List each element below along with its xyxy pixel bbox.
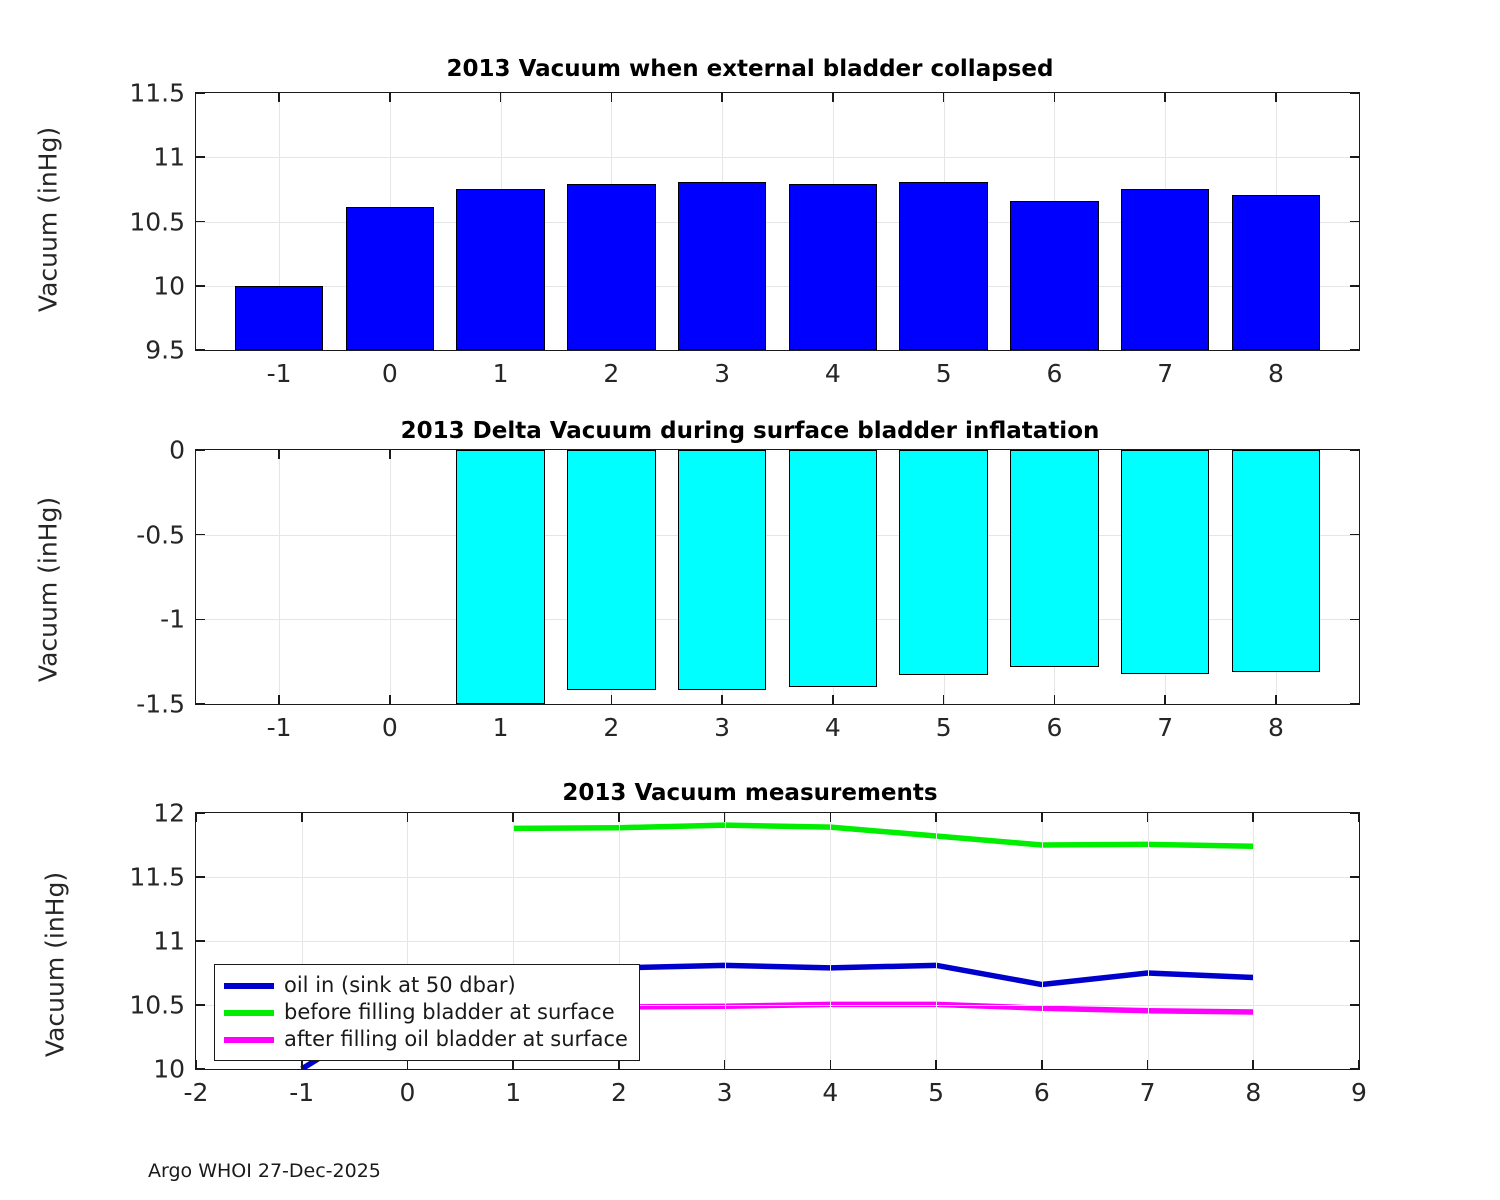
x-tick-mark <box>935 813 937 822</box>
x-tick-mark <box>1054 695 1056 704</box>
bar[interactable] <box>235 286 324 350</box>
y-tick-mark <box>1350 703 1359 705</box>
panel-3-title: 2013 Vacuum measurements <box>0 780 1500 806</box>
y-tick-mark <box>196 812 205 814</box>
bar[interactable] <box>1232 450 1321 672</box>
bar[interactable] <box>456 450 545 704</box>
gridline-vertical <box>1148 813 1149 1069</box>
x-tick-label: 6 <box>1046 713 1062 742</box>
x-tick-mark <box>724 813 726 822</box>
x-tick-label: 3 <box>717 1078 733 1107</box>
bar[interactable] <box>1232 195 1321 350</box>
y-tick-label: 10 <box>153 1055 185 1084</box>
panel-2-ylabel: Vacuum (inHg) <box>34 480 63 700</box>
x-tick-mark <box>512 1060 514 1069</box>
x-tick-mark <box>195 1060 197 1069</box>
x-tick-label: -1 <box>267 713 292 742</box>
x-tick-label: 4 <box>825 713 841 742</box>
y-tick-mark <box>1350 349 1359 351</box>
y-tick-mark <box>1350 1004 1359 1006</box>
y-tick-mark <box>1350 534 1359 536</box>
y-tick-mark <box>196 221 205 223</box>
y-tick-label: 11.5 <box>129 863 185 892</box>
y-tick-mark <box>196 449 205 451</box>
y-tick-mark <box>196 703 205 705</box>
x-tick-label: 3 <box>714 359 730 388</box>
panel-1-plot-area: 9.51010.51111.5-1012345678 <box>195 92 1360 351</box>
x-tick-label: 9 <box>1351 1078 1367 1107</box>
panel-1-title: 2013 Vacuum when external bladder collap… <box>0 56 1500 82</box>
bar[interactable] <box>346 207 435 350</box>
footer-credit: Argo WHOI 27-Dec-2025 <box>148 1160 381 1182</box>
x-tick-mark <box>195 813 197 822</box>
x-tick-label: 7 <box>1140 1078 1156 1107</box>
bar[interactable] <box>1121 450 1210 674</box>
x-tick-mark <box>1164 93 1166 102</box>
x-tick-mark <box>389 695 391 704</box>
x-tick-label: 5 <box>936 713 952 742</box>
bar[interactable] <box>1010 201 1099 350</box>
y-tick-label: -1.5 <box>136 690 185 719</box>
x-tick-label: -2 <box>184 1078 209 1107</box>
x-tick-mark <box>830 813 832 822</box>
y-tick-mark <box>1350 940 1359 942</box>
bar[interactable] <box>678 182 767 350</box>
y-tick-label: -0.5 <box>136 520 185 549</box>
x-tick-label: 5 <box>928 1078 944 1107</box>
x-tick-mark <box>278 695 280 704</box>
x-tick-mark <box>301 813 303 822</box>
bar[interactable] <box>1010 450 1099 667</box>
x-tick-mark <box>618 1060 620 1069</box>
bar[interactable] <box>789 184 878 350</box>
y-tick-mark <box>1350 449 1359 451</box>
x-tick-mark <box>724 1060 726 1069</box>
x-tick-mark <box>1358 1060 1360 1069</box>
x-tick-label: 2 <box>611 1078 627 1107</box>
x-tick-label: 1 <box>505 1078 521 1107</box>
legend-item[interactable]: oil in (sink at 50 dbar) <box>224 972 628 999</box>
bar[interactable] <box>567 450 656 690</box>
y-tick-label: 10 <box>153 271 185 300</box>
bar[interactable] <box>1121 189 1210 350</box>
panel-1-ylabel: Vacuum (inHg) <box>34 110 63 330</box>
x-tick-mark <box>1041 813 1043 822</box>
y-tick-mark <box>196 349 205 351</box>
x-tick-mark <box>832 93 834 102</box>
x-tick-label: 0 <box>400 1078 416 1107</box>
x-tick-label: 6 <box>1034 1078 1050 1107</box>
x-tick-label: 4 <box>825 359 841 388</box>
gridline-vertical <box>936 813 937 1069</box>
panel-3-plot-area: oil in (sink at 50 dbar)before filling b… <box>195 812 1360 1070</box>
x-tick-mark <box>1041 1060 1043 1069</box>
x-tick-mark <box>278 450 280 459</box>
x-tick-mark <box>1147 1060 1149 1069</box>
y-tick-mark <box>196 156 205 158</box>
x-tick-mark <box>611 695 613 704</box>
x-tick-mark <box>278 93 280 102</box>
x-tick-mark <box>1147 813 1149 822</box>
x-tick-mark <box>611 93 613 102</box>
y-tick-mark <box>1350 156 1359 158</box>
x-tick-mark <box>1252 813 1254 822</box>
x-tick-label: 6 <box>1046 359 1062 388</box>
x-tick-mark <box>407 813 409 822</box>
legend-label: oil in (sink at 50 dbar) <box>284 975 516 996</box>
x-tick-mark <box>943 93 945 102</box>
bar[interactable] <box>789 450 878 687</box>
x-tick-label: -1 <box>267 359 292 388</box>
panel-vacuum-measurements: 2013 Vacuum measurements Vacuum (inHg) o… <box>0 770 1500 1100</box>
y-tick-mark <box>196 285 205 287</box>
panel-3-ylabel: Vacuum (inHg) <box>41 855 70 1075</box>
gridline-vertical <box>830 813 831 1069</box>
x-tick-mark <box>301 1060 303 1069</box>
x-tick-mark <box>1275 93 1277 102</box>
y-tick-label: -1 <box>160 605 185 634</box>
y-tick-mark <box>196 1068 205 1070</box>
x-tick-label: 0 <box>382 359 398 388</box>
x-tick-label: 4 <box>822 1078 838 1107</box>
legend-color-swatch <box>224 983 274 989</box>
x-tick-label: 7 <box>1157 713 1173 742</box>
x-tick-mark <box>1164 695 1166 704</box>
x-tick-mark <box>407 1060 409 1069</box>
y-tick-label: 9.5 <box>145 336 185 365</box>
x-tick-mark <box>1275 695 1277 704</box>
y-tick-label: 10.5 <box>129 991 185 1020</box>
y-tick-label: 10.5 <box>129 207 185 236</box>
x-tick-mark <box>389 450 391 459</box>
gridline-vertical <box>725 813 726 1069</box>
x-tick-mark <box>1358 813 1360 822</box>
y-tick-mark <box>196 876 205 878</box>
y-tick-mark <box>196 534 205 536</box>
x-tick-mark <box>512 813 514 822</box>
x-tick-label: 8 <box>1245 1078 1261 1107</box>
x-tick-label: 2 <box>603 359 619 388</box>
x-tick-mark <box>832 695 834 704</box>
x-tick-mark <box>830 1060 832 1069</box>
legend-label: after filling oil bladder at surface <box>284 1029 628 1050</box>
x-tick-label: 5 <box>936 359 952 388</box>
y-tick-mark <box>1350 221 1359 223</box>
legend-item[interactable]: after filling oil bladder at surface <box>224 1026 628 1053</box>
y-tick-label: 11 <box>153 143 185 172</box>
gridline-horizontal <box>196 941 1359 942</box>
x-tick-label: 8 <box>1268 713 1284 742</box>
figure-canvas: 2013 Vacuum when external bladder collap… <box>0 0 1500 1200</box>
y-tick-mark <box>1350 619 1359 621</box>
line-series <box>513 825 1253 846</box>
legend-color-swatch <box>224 1037 274 1043</box>
gridline-vertical <box>1042 813 1043 1069</box>
legend-label: before filling bladder at surface <box>284 1002 615 1023</box>
panel-delta-vacuum: 2013 Delta Vacuum during surface bladder… <box>0 400 1500 770</box>
x-tick-label: 7 <box>1157 359 1173 388</box>
x-tick-label: 3 <box>714 713 730 742</box>
bar[interactable] <box>678 450 767 690</box>
panel-2-title: 2013 Delta Vacuum during surface bladder… <box>0 418 1500 444</box>
gridline-horizontal <box>196 157 1359 158</box>
panel-3-legend[interactable]: oil in (sink at 50 dbar)before filling b… <box>214 964 640 1061</box>
x-tick-mark <box>389 93 391 102</box>
bar[interactable] <box>899 182 988 350</box>
bar[interactable] <box>456 189 545 350</box>
x-tick-label: 2 <box>603 713 619 742</box>
y-tick-mark <box>1350 92 1359 94</box>
y-tick-mark <box>1350 285 1359 287</box>
y-tick-mark <box>1350 876 1359 878</box>
y-tick-mark <box>196 92 205 94</box>
gridline-vertical <box>390 450 391 704</box>
x-tick-mark <box>500 93 502 102</box>
y-tick-mark <box>196 1004 205 1006</box>
x-tick-mark <box>721 93 723 102</box>
panel-vacuum-when-collapsed: 2013 Vacuum when external bladder collap… <box>0 0 1500 400</box>
x-tick-label: 1 <box>493 713 509 742</box>
x-tick-mark <box>1054 93 1056 102</box>
gridline-vertical <box>1253 813 1254 1069</box>
x-tick-label: 1 <box>493 359 509 388</box>
y-tick-mark <box>196 940 205 942</box>
x-tick-mark <box>935 1060 937 1069</box>
x-tick-mark <box>721 695 723 704</box>
x-tick-label: 0 <box>382 713 398 742</box>
gridline-vertical <box>279 450 280 704</box>
x-tick-mark <box>1252 1060 1254 1069</box>
x-tick-mark <box>943 695 945 704</box>
y-tick-label: 12 <box>153 799 185 828</box>
legend-color-swatch <box>224 1010 274 1016</box>
bar[interactable] <box>567 184 656 350</box>
panel-2-plot-area: -1.5-1-0.50-1012345678 <box>195 449 1360 705</box>
bar[interactable] <box>899 450 988 675</box>
legend-item[interactable]: before filling bladder at surface <box>224 999 628 1026</box>
y-tick-label: 11 <box>153 927 185 956</box>
y-tick-mark <box>196 619 205 621</box>
y-tick-label: 0 <box>169 436 185 465</box>
y-tick-label: 11.5 <box>129 79 185 108</box>
x-tick-mark <box>618 813 620 822</box>
x-tick-label: 8 <box>1268 359 1284 388</box>
x-tick-label: -1 <box>289 1078 314 1107</box>
gridline-horizontal <box>196 877 1359 878</box>
